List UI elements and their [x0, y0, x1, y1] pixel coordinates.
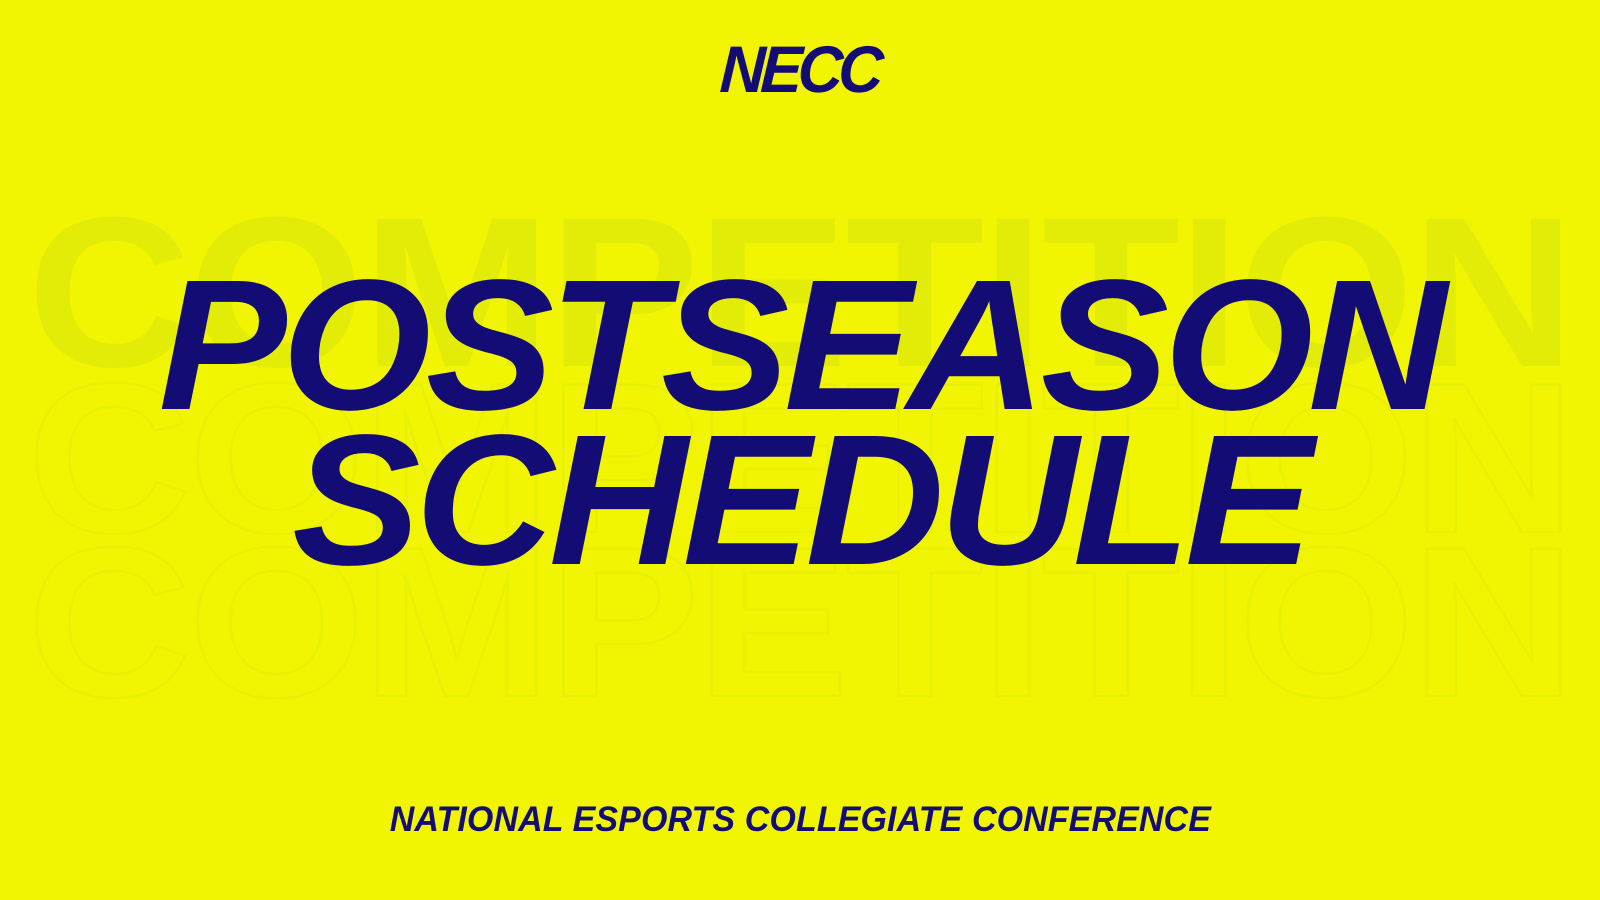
footer: NATIONAL ESPORTS COLLEGIATE CONFERENCE [0, 802, 1600, 837]
page-title: POSTSEASON SCHEDULE [0, 262, 1600, 585]
necc-logo: NECC [0, 36, 1600, 102]
footer-tagline: NATIONAL ESPORTS COLLEGIATE CONFERENCE [389, 802, 1210, 837]
necc-wordmark: NECC [719, 36, 881, 102]
headline-line-schedule: SCHEDULE [0, 417, 1600, 584]
poster-canvas: COMPETITION COMPETITION COMPETITION NECC… [0, 0, 1600, 900]
